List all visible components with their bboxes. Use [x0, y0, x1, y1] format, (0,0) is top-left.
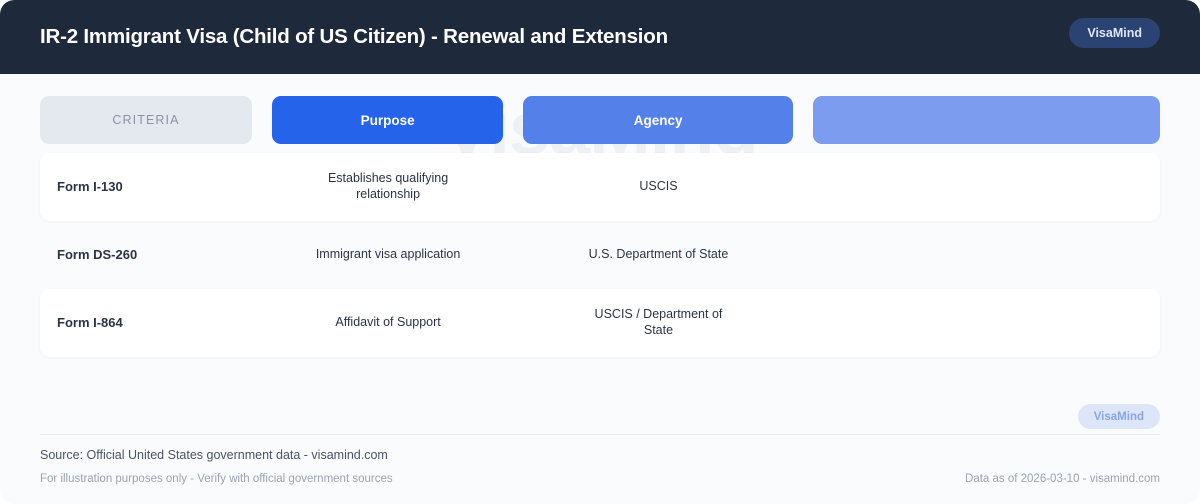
column-header-purpose[interactable]: Purpose	[272, 96, 503, 144]
column-header-extra[interactable]	[813, 96, 1160, 144]
table-row[interactable]: Form I-130 Establishes qualifying relati…	[40, 153, 1160, 221]
column-header-criteria[interactable]: CRITERIA	[40, 96, 252, 144]
source-text: Source: Official United States governmen…	[40, 448, 388, 462]
data-as-of-text: Data as of 2026-03-10 - visamind.com	[965, 473, 1160, 485]
table-body: Form I-130 Establishes qualifying relati…	[40, 153, 1160, 357]
cell-agency-text: U.S. Department of State	[589, 247, 729, 263]
cell-agency-text: USCIS	[639, 179, 677, 195]
cell-purpose-text: Affidavit of Support	[335, 315, 440, 331]
comparison-table: CRITERIA Purpose Agency Form I-130 Estab…	[40, 96, 1160, 357]
cell-purpose-text: Establishes qualifying relationship	[308, 171, 468, 202]
cell-agency-text: USCIS / Department of State	[588, 307, 728, 338]
cell-criteria: Form I-864	[40, 289, 253, 357]
brand-badge-footer: VisaMind	[1078, 404, 1160, 429]
cell-criteria: Form DS-260	[40, 221, 253, 289]
cell-extra	[813, 289, 1160, 357]
cell-purpose: Affidavit of Support	[273, 289, 504, 357]
table-header-row: CRITERIA Purpose Agency	[40, 96, 1160, 144]
page-header: IR-2 Immigrant Visa (Child of US Citizen…	[0, 0, 1200, 74]
table-row[interactable]: Form DS-260 Immigrant visa application U…	[40, 221, 1160, 289]
cell-extra	[813, 153, 1160, 221]
footer-divider	[40, 434, 1160, 435]
table-row[interactable]: Form I-864 Affidavit of Support USCIS / …	[40, 289, 1160, 357]
page-title: IR-2 Immigrant Visa (Child of US Citizen…	[40, 25, 668, 49]
infographic-card: IR-2 Immigrant Visa (Child of US Citizen…	[0, 0, 1200, 504]
cell-purpose: Immigrant visa application	[273, 221, 504, 289]
cell-agency: USCIS	[524, 153, 794, 221]
cell-criteria: Form I-130	[40, 153, 253, 221]
brand-badge-header: VisaMind	[1069, 18, 1160, 48]
column-header-agency[interactable]: Agency	[523, 96, 793, 144]
cell-agency: U.S. Department of State	[524, 221, 794, 289]
cell-purpose: Establishes qualifying relationship	[273, 153, 504, 221]
disclaimer-text: For illustration purposes only - Verify …	[40, 473, 393, 485]
cell-extra	[813, 221, 1160, 289]
cell-agency: USCIS / Department of State	[524, 289, 794, 357]
cell-purpose-text: Immigrant visa application	[316, 247, 461, 263]
